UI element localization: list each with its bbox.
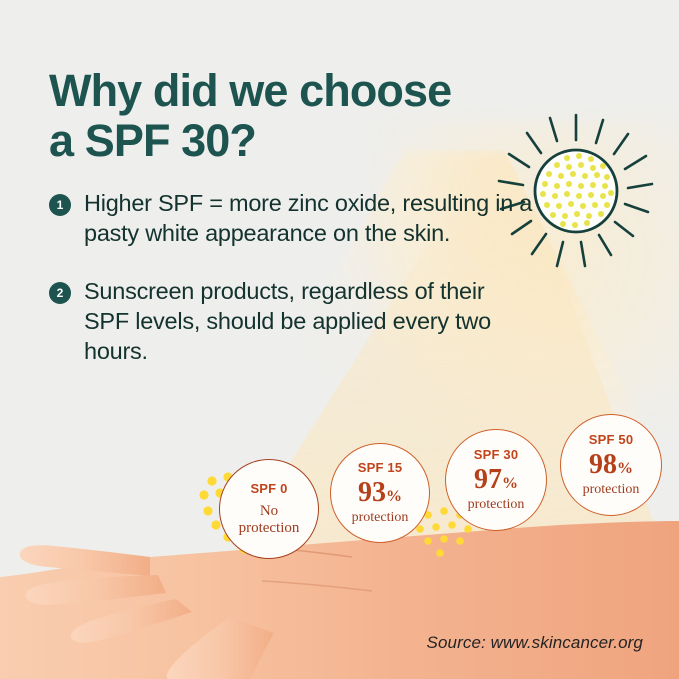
spf-bubble-0-sub-line-2: protection xyxy=(239,520,300,536)
spf-bubble-30: SPF 30 97% protection xyxy=(445,429,547,531)
page-title: Why did we choose a SPF 30? xyxy=(49,66,589,165)
spf-bubble-0: SPF 0 No protection xyxy=(219,459,319,559)
spf-bubble-15-percent: 93% xyxy=(358,479,402,507)
spf-bubble-0-title: SPF 0 xyxy=(250,481,287,496)
spf-bubble-0-subtitle: No protection xyxy=(239,503,300,537)
percent-symbol: % xyxy=(502,475,518,492)
reasons-list: 1 Higher SPF = more zinc oxide, resultin… xyxy=(49,188,534,394)
spf-bubble-50-title: SPF 50 xyxy=(589,432,634,447)
source-citation: Source: www.skincancer.org xyxy=(427,633,643,653)
hand-icon xyxy=(0,521,679,679)
spf-bubble-30-title: SPF 30 xyxy=(474,447,519,462)
infographic-canvas: Why did we choose a SPF 30? 1 Higher SPF… xyxy=(0,0,679,679)
page-title-line-1: Why did we choose xyxy=(49,65,451,116)
spf-bubble-50-percent: 98% xyxy=(589,451,633,479)
spf-bubble-15-subtitle: protection xyxy=(352,510,409,526)
list-item-number-1: 1 xyxy=(49,194,71,216)
list-item-number-2: 2 xyxy=(49,282,71,304)
spf-bubble-30-subtitle: protection xyxy=(468,497,525,513)
spf-bubble-15: SPF 15 93% protection xyxy=(330,443,430,543)
list-item-text-2: Sunscreen products, regardless of their … xyxy=(84,276,534,367)
list-item: 1 Higher SPF = more zinc oxide, resultin… xyxy=(49,188,534,249)
list-item: 2 Sunscreen products, regardless of thei… xyxy=(49,276,534,367)
spf-bubble-15-title: SPF 15 xyxy=(358,460,403,475)
page-title-line-2: a SPF 30? xyxy=(49,116,589,166)
percent-symbol: % xyxy=(386,488,402,505)
spf-bubble-50-value: 98 xyxy=(589,449,617,480)
percent-symbol: % xyxy=(617,460,633,477)
spf-bubble-30-percent: 97% xyxy=(474,466,518,494)
spf-bubble-0-sub-line-1: No xyxy=(260,503,278,519)
spf-bubble-50: SPF 50 98% protection xyxy=(560,414,662,516)
list-item-text-1: Higher SPF = more zinc oxide, resulting … xyxy=(84,188,534,249)
spf-bubble-50-subtitle: protection xyxy=(583,482,640,498)
spf-bubble-15-value: 93 xyxy=(358,477,386,508)
spf-bubble-30-value: 97 xyxy=(474,464,502,495)
